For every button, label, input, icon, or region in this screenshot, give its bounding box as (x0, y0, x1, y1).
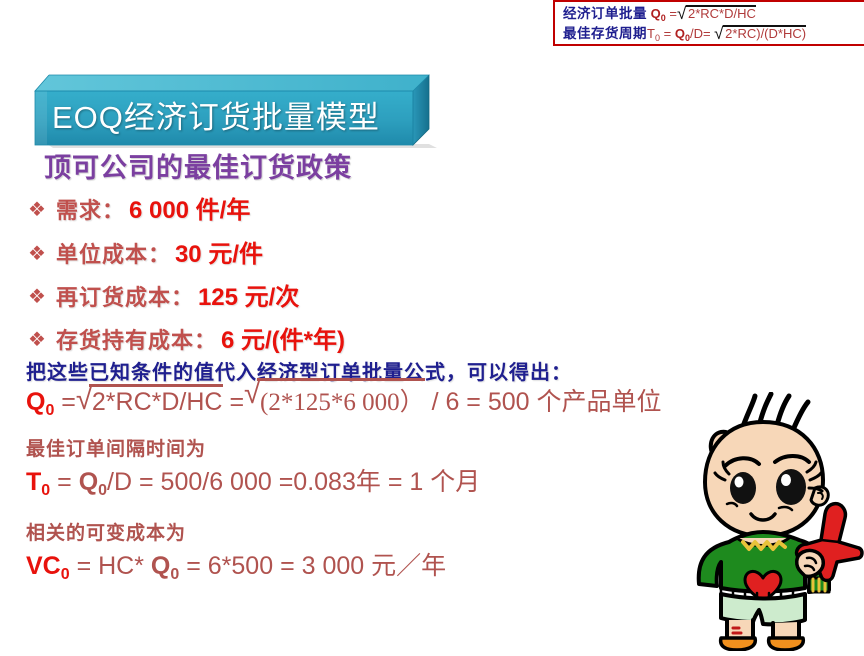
radical-overbar (257, 378, 425, 381)
cartoon-baby-illustration (663, 392, 864, 651)
equation-q0-eq2: = (223, 388, 245, 416)
vc0-heading: 相关的可变成本为 (26, 518, 186, 545)
equation-t0-unit-2: 个月 (430, 469, 480, 496)
diamond-bullet-icon: ❖ (28, 197, 46, 221)
radical-glyph-icon: √ (76, 385, 92, 415)
equation-q0-eq1: = (54, 388, 76, 416)
formula-box-line2-label: 最佳存货周期 (563, 26, 647, 41)
equation-q0-radical-2: √(2*125*6 000） (244, 382, 425, 418)
t0-heading: 最佳订单间隔时间为 (26, 434, 206, 461)
formula-box-line1-radical: √2*RC*D/HC (677, 7, 756, 20)
equation-q0: Q0 =√2*RC*D/HC =√(2*125*6 000） / 6 = 500… (26, 382, 662, 420)
formula-box-line-2: 最佳存货周期T0 = Q0/D= √2*RC)/(D*HC) (563, 27, 806, 43)
list-item-value: 30 元/件 (175, 241, 263, 268)
equation-t0-var: Q (79, 468, 98, 496)
formula-box-line2-radicand: 2*RC)/(D*HC) (725, 26, 806, 41)
equation-vc0-unit: 元／年 (371, 553, 446, 580)
equation-vc0-rest: = 6*500 = 3 000 (179, 552, 371, 580)
radical-overbar (686, 5, 756, 7)
equation-q0-tail: / 6 = 500 (425, 388, 537, 416)
list-item-label: 再订货成本： (56, 285, 194, 310)
formula-box-line-1: 经济订单批量 Q0 =√2*RC*D/HC (563, 7, 756, 23)
radical-glyph-icon: √ (244, 379, 260, 409)
list-item: ❖需求：6 000 件/年 (28, 190, 250, 225)
page-title: EOQ经济订货批量模型 (52, 92, 412, 137)
equation-q0-radicand-1: 2*RC*D/HC (92, 388, 223, 416)
lead-in-text: 把这些已知条件的值代入经济型订单批量公式，可以得出： (26, 356, 572, 385)
formula-box-line2-radical: √2*RC)/(D*HC) (714, 27, 806, 40)
equation-q0-radical-1: √2*RC*D/HC (76, 388, 223, 417)
formula-box-line1-radicand: 2*RC*D/HC (688, 6, 756, 21)
equation-vc0-var: Q (151, 552, 170, 580)
slide-canvas: 经济订单批量 Q0 =√2*RC*D/HC 最佳存货周期T0 = Q0/D= √… (0, 0, 864, 651)
equation-t0: T0 = Q0/D = 500/6 000 =0.083年 = 1 个月 (26, 462, 480, 500)
equation-vc0-symbol-sub: 0 (61, 566, 70, 583)
page-subtitle: 顶可公司的最佳订货政策 (44, 146, 352, 185)
equation-vc0-eq1: = HC* (70, 552, 151, 580)
formula-box-line1-label: 经济订单批量 (563, 6, 647, 21)
list-item-label: 单位成本： (56, 242, 171, 267)
list-item-label: 需求： (56, 198, 125, 223)
equation-vc0-var-sub: 0 (170, 566, 179, 583)
equation-t0-rest: /D = 500/6 000 =0.083 (107, 468, 356, 496)
formula-reference-box: 经济订单批量 Q0 =√2*RC*D/HC 最佳存货周期T0 = Q0/D= √… (553, 0, 864, 46)
list-item: ❖存货持有成本：6 元/(件*年) (28, 320, 345, 355)
equation-t0-eq1: = (50, 468, 79, 496)
formula-box-line2-symbol: T (647, 26, 655, 41)
diamond-bullet-icon: ❖ (28, 284, 46, 308)
radical-overbar (89, 384, 223, 387)
list-item-value: 125 元/次 (198, 284, 299, 311)
equation-t0-symbol-sub: 0 (41, 482, 50, 499)
formula-box-line1-equals: = (669, 6, 677, 21)
formula-box-line2-symbol-sub: 0 (655, 33, 660, 43)
formula-box-line2-equals: = (664, 26, 672, 41)
formula-box-line1-symbol-sub: 0 (661, 13, 666, 23)
radical-overbar (723, 25, 806, 27)
list-item: ❖再订货成本：125 元/次 (28, 277, 299, 312)
list-item-value: 6 元/(件*年) (221, 327, 345, 354)
formula-box-line2-var: Q (675, 26, 685, 41)
radical-glyph-icon: √ (714, 25, 723, 42)
list-item: ❖单位成本：30 元/件 (28, 234, 263, 269)
equation-t0-symbol: T (26, 468, 41, 496)
equation-t0-var-sub: 0 (98, 482, 107, 499)
equation-vc0-symbol: VC (26, 552, 61, 580)
radical-glyph-icon: √ (677, 5, 686, 22)
equation-q0-symbol: Q (26, 388, 45, 416)
formula-box-line2-over: /D= (690, 26, 711, 41)
list-item-label: 存货持有成本： (56, 328, 217, 353)
equation-t0-unit-1: 年 (356, 469, 381, 496)
equation-q0-radicand-2: (2*125*6 000） (260, 389, 425, 416)
equation-vc0: VC0 = HC* Q0 = 6*500 = 3 000 元／年 (26, 546, 446, 584)
equation-t0-rest-2: = 1 (381, 468, 430, 496)
diamond-bullet-icon: ❖ (28, 327, 46, 351)
list-item-value: 6 000 件/年 (129, 197, 250, 224)
formula-box-line1-symbol: Q (651, 6, 661, 21)
diamond-bullet-icon: ❖ (28, 241, 46, 265)
equation-q0-unit: 个产品单位 (537, 389, 662, 416)
